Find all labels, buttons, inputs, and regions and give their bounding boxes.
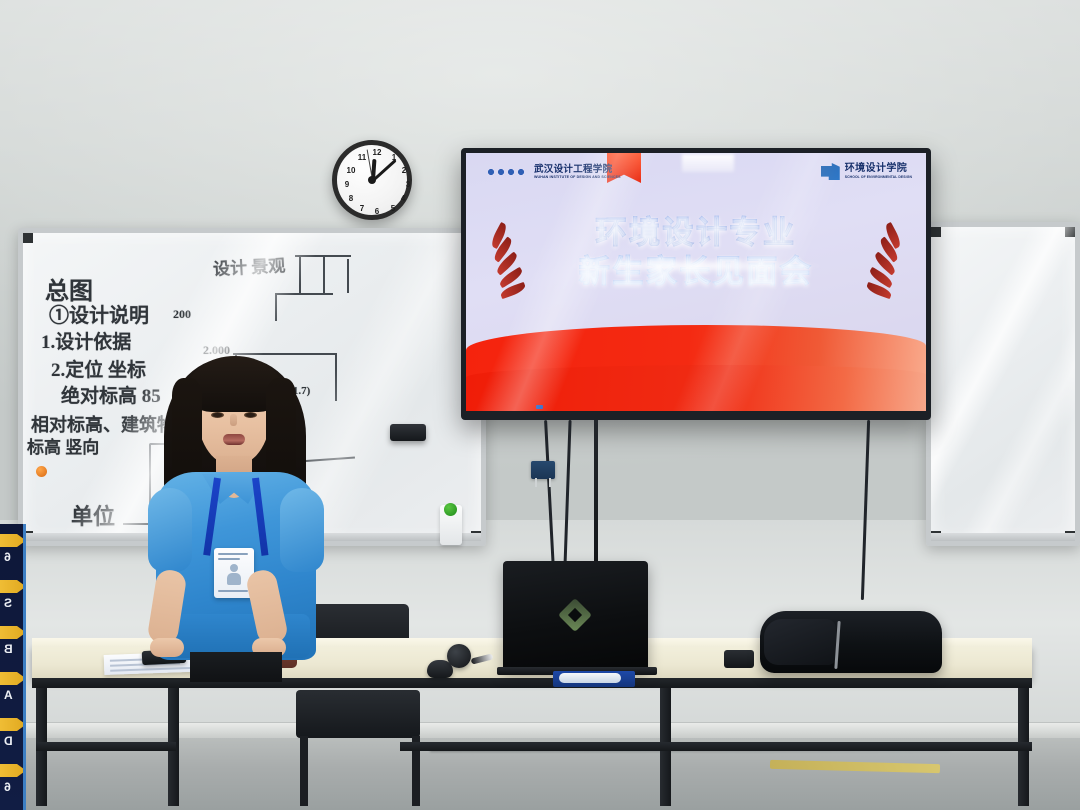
microphone-head[interactable] [447, 644, 471, 668]
banner-chevron [0, 580, 26, 593]
clock-numeral: 2 [399, 166, 409, 176]
socket-leg [535, 478, 537, 487]
whiteboard-ink-line [299, 255, 301, 293]
whiteboard-glare [931, 227, 1075, 541]
clock-numeral: 3 [403, 180, 413, 190]
banner-chevron [0, 534, 26, 547]
whiteboard-note: 单位 [71, 499, 115, 531]
whiteboard-note: 设计 景观 [212, 251, 285, 280]
whiteboard-ink-line [275, 293, 277, 321]
logo-school-environmental-design: 环境设计学院 SCHOOL OF ENVIRONMENTAL DESIGN [821, 163, 912, 180]
table-rail [400, 742, 1032, 751]
logo-right-en: SCHOOL OF ENVIRONMENTAL DESIGN [845, 176, 912, 179]
clock-numeral: 8 [346, 194, 356, 204]
green-magnet [444, 503, 457, 516]
whiteboard-note: 1.设计依据 [41, 327, 131, 354]
whiteboard-eraser [390, 424, 426, 441]
wall-clock: 12 1 2 3 4 5 6 7 8 9 10 11 [332, 140, 412, 220]
power-adapter[interactable] [724, 650, 754, 668]
eye [211, 412, 224, 418]
wall-mounted-tv[interactable]: 武汉设计工程学院 WUHAN INSTITUTE OF DESIGN AND S… [461, 148, 931, 420]
clock-numeral: 6 [372, 207, 382, 217]
clock-numeral: 5 [388, 204, 398, 214]
logo-left-en: WUHAN INSTITUTE OF DESIGN AND SCIENCES [534, 176, 621, 180]
banner-letter: 6 [4, 780, 11, 794]
slide-red-wave-front [466, 365, 926, 411]
tv-indicator-led [536, 405, 543, 409]
blue-package[interactable] [553, 671, 635, 687]
sleeve-right [280, 488, 324, 572]
banner-chevron [0, 718, 26, 731]
orange-magnet [36, 466, 47, 477]
clock-numeral: 7 [357, 204, 367, 214]
clock-numeral: 12 [372, 148, 382, 158]
whiteboard-corner [1065, 226, 1076, 237]
badge-line [218, 553, 248, 555]
logo-right-cn: 环境设计学院 [845, 164, 912, 174]
whiteboard-corner [22, 232, 33, 243]
tv-screen: 武汉设计工程学院 WUHAN INSTITUTE OF DESIGN AND S… [466, 153, 926, 411]
clock-numeral: 9 [342, 180, 352, 190]
backpack-flap [764, 619, 836, 665]
socket-leg [549, 478, 551, 487]
banner-letter: B [4, 642, 13, 656]
wall-socket-plate [531, 461, 555, 479]
left-wall-banner: 6 S B A D 6 [0, 524, 26, 810]
tv-mount-pole [594, 420, 598, 562]
badge-line [218, 558, 240, 560]
whiteboard-note: ①设计说明 [49, 299, 149, 328]
clock-numeral: 4 [398, 194, 408, 204]
sleeve-left [148, 488, 192, 572]
whiteboard-note: 2.定位 坐标 [51, 355, 146, 382]
presenter [140, 352, 330, 682]
table-rail [36, 742, 176, 751]
marker-tube [559, 673, 621, 683]
slide-title-line1: 环境设计专业 [466, 213, 926, 252]
whiteboard-right [926, 222, 1080, 546]
whiteboard-ink-line [347, 259, 349, 293]
whiteboard-ink-line [295, 255, 351, 257]
chair-seat[interactable] [296, 690, 420, 738]
whiteboard-ink-line [323, 255, 325, 293]
whiteboard-ink-line [335, 353, 337, 401]
banner-chevron [0, 672, 26, 685]
badge-line [218, 590, 248, 592]
badge-photo-body [227, 573, 241, 585]
banner-chevron [0, 764, 26, 777]
chair-leg [300, 736, 308, 806]
whiteboard-ink-line [275, 293, 333, 295]
backpack[interactable] [760, 611, 942, 673]
hand-left [150, 638, 184, 657]
whiteboard-pen-tray [931, 533, 1075, 542]
institute-logo-icon [486, 166, 530, 178]
banner-letter: A [4, 688, 13, 702]
nose [230, 414, 237, 426]
badge-photo-head [230, 564, 238, 572]
slide-title: 环境设计专业 新生家长见面会 [466, 213, 926, 291]
baseboard [0, 722, 1080, 738]
eye [244, 412, 257, 418]
banner-chevron [0, 626, 26, 639]
laptop-logo-icon [558, 598, 592, 632]
logo-left-cn: 武汉设计工程学院 [534, 165, 621, 175]
lower-body [190, 652, 282, 682]
classroom-photo: 12 1 2 3 4 5 6 7 8 9 10 11 总图 ①设计说明 1.设计… [0, 0, 1080, 810]
clock-numeral: 10 [346, 166, 356, 176]
slide-title-line2: 新生家长见面会 [466, 252, 926, 291]
clock-center-pin [368, 176, 376, 184]
banner-letter: D [4, 734, 13, 748]
mouth [223, 434, 245, 445]
whiteboard-note: 标高 竖向 [27, 439, 99, 458]
banner-letter: 6 [4, 550, 11, 564]
screen-glare-block [682, 154, 734, 172]
banner-letter: S [4, 596, 12, 610]
whiteboard-corner [930, 226, 941, 237]
school-logo-icon [821, 163, 840, 180]
clock-numeral: 11 [357, 153, 367, 163]
laptop[interactable] [503, 561, 648, 669]
whiteboard-note: 200 [173, 307, 191, 322]
logo-wuhan-institute: 武汉设计工程学院 WUHAN INSTITUTE OF DESIGN AND S… [486, 165, 621, 179]
